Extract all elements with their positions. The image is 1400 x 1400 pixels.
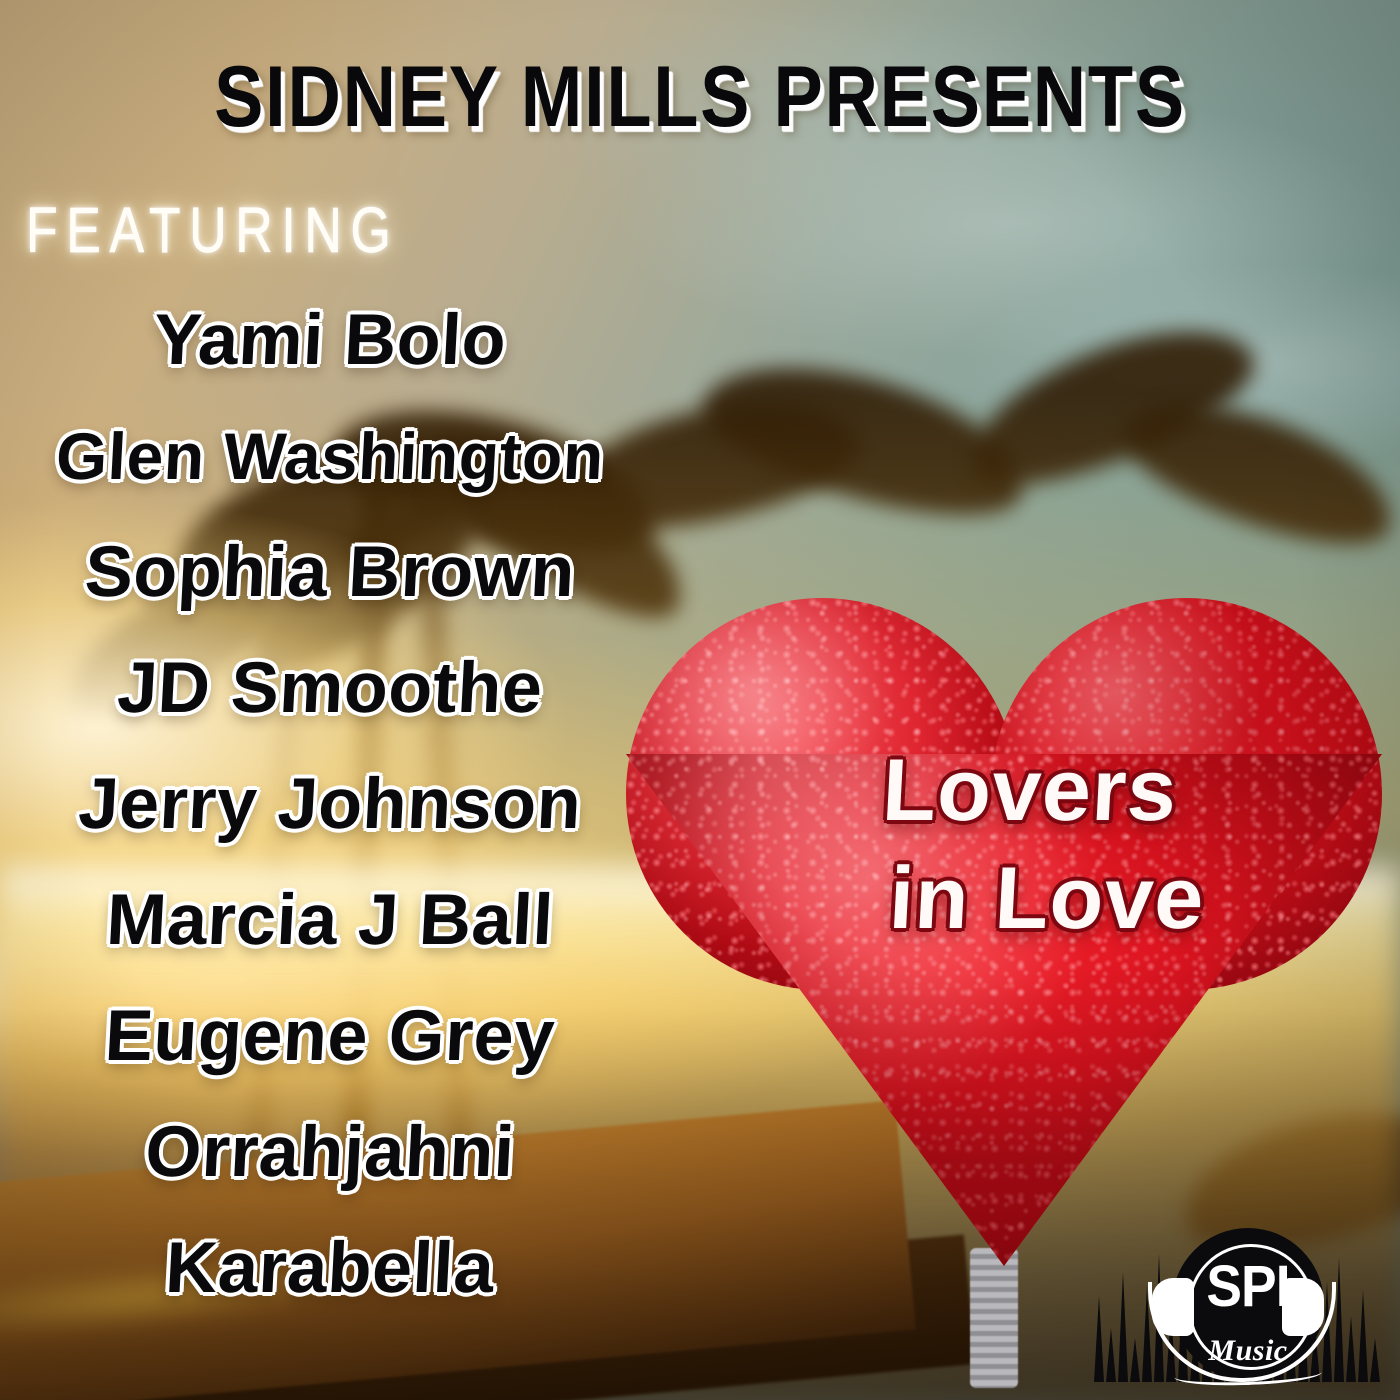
list-item: Orrahjahni xyxy=(0,1094,663,1210)
artist-list: Yami Bolo Glen Washington Sophia Brown J… xyxy=(0,282,660,1326)
album-cover: SIDNEY MILLS PRESENTS FEATURING Yami Bol… xyxy=(0,0,1400,1400)
list-item: Marcia J Ball xyxy=(0,862,663,978)
list-item: Eugene Grey xyxy=(0,978,663,1094)
list-item: Sophia Brown xyxy=(0,514,663,630)
page-title: SIDNEY MILLS PRESENTS xyxy=(98,48,1302,147)
beaded-heart-graphic xyxy=(618,568,1388,1328)
list-item: Karabella xyxy=(0,1210,663,1326)
logo-brand-text: SPI xyxy=(1193,1258,1303,1316)
list-item: JD Smoothe xyxy=(0,630,663,746)
list-item: Glen Washington xyxy=(0,398,663,514)
list-item: Jerry Johnson xyxy=(0,746,663,862)
heart-shape xyxy=(618,568,1388,1278)
featuring-label: FEATURING xyxy=(26,194,399,267)
list-item: Yami Bolo xyxy=(0,282,663,398)
spi-music-logo: SPI Music xyxy=(1086,1224,1386,1394)
logo-swash-underline xyxy=(1174,1361,1323,1387)
